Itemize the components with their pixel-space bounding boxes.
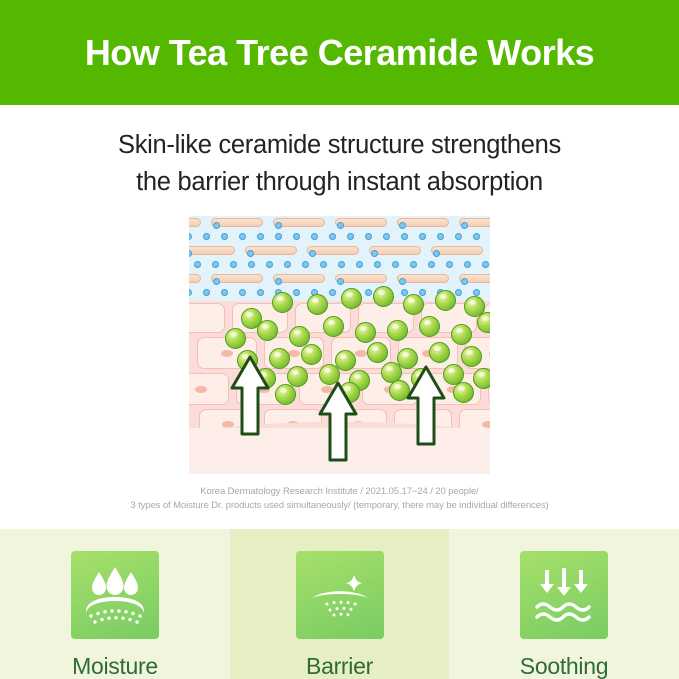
benefit-card-barrier[interactable]: Barrier (230, 529, 449, 679)
benefits-row: Moisture Barrier (0, 529, 679, 679)
page-title: How Tea Tree Ceramide Works (85, 35, 594, 71)
ceramide-particle (373, 286, 394, 307)
subtitle-line-1: Skin-like ceramide structure strengthens (0, 127, 679, 164)
water-drops-icon (71, 551, 159, 639)
absorption-arrow (317, 380, 359, 464)
caption-line-2: 3 types of Moisture Dr. products used si… (0, 499, 679, 513)
caption-line-1: Korea Dermatology Research Institute / 2… (0, 485, 679, 499)
ceramide-particle (453, 382, 474, 403)
benefit-label: Moisture (72, 655, 158, 678)
benefit-card-soothing[interactable]: Soothing (449, 529, 679, 679)
barrier-shield-icon (296, 551, 384, 639)
ceramide-particle (367, 342, 388, 363)
ceramide-particle (355, 322, 376, 343)
ceramide-particle (269, 348, 290, 369)
ceramide-particle (435, 290, 456, 311)
benefit-label: Soothing (520, 655, 608, 678)
skin-cross-section-diagram (189, 216, 490, 474)
illustration-container (0, 216, 679, 474)
ceramide-particle (275, 384, 296, 405)
ceramide-particle (272, 292, 293, 313)
ceramide-particle (323, 316, 344, 337)
ceramide-particle (473, 368, 490, 389)
subtitle-block: Skin-like ceramide structure strengthens… (0, 105, 679, 201)
ceramide-particle (451, 324, 472, 345)
benefit-card-moisture[interactable]: Moisture (0, 529, 230, 679)
ceramide-particle (341, 288, 362, 309)
ceramide-particle (257, 320, 278, 341)
absorption-arrow (229, 354, 271, 438)
header-banner: How Tea Tree Ceramide Works (0, 0, 679, 105)
ceramide-particle (225, 328, 246, 349)
ceramide-particle (461, 346, 482, 367)
ceramide-particle (429, 342, 450, 363)
absorption-arrow (405, 364, 447, 448)
ceramide-particle (301, 344, 322, 365)
ceramide-particle (387, 320, 408, 341)
subtitle-line-2: the barrier through instant absorption (0, 164, 679, 201)
ceramide-particle (287, 366, 308, 387)
ceramide-particle (307, 294, 328, 315)
benefit-label: Barrier (306, 655, 373, 678)
stratum-corneum-layer (189, 216, 490, 301)
ceramide-particle (403, 294, 424, 315)
caption-block: Korea Dermatology Research Institute / 2… (0, 485, 679, 512)
down-arrows-waves-icon (520, 551, 608, 639)
ceramide-particle (419, 316, 440, 337)
